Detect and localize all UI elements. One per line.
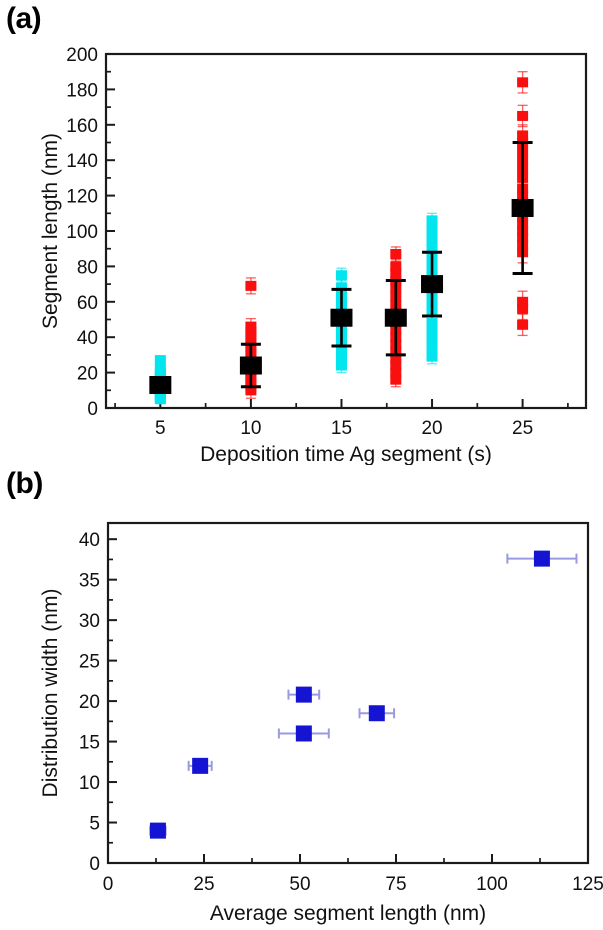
panel-b-label: (b) xyxy=(6,467,43,501)
data-marker xyxy=(427,352,438,362)
x-tick-label: 5 xyxy=(155,418,166,439)
x-tick-label: 75 xyxy=(385,874,406,895)
y-tick-label: 5 xyxy=(89,814,100,835)
y-tick-label: 40 xyxy=(79,530,100,551)
mean-marker-15 xyxy=(330,289,352,346)
y-tick-label: 80 xyxy=(77,257,98,278)
data-marker xyxy=(390,375,401,385)
y-tick-label: 25 xyxy=(79,652,100,673)
data-point-4 xyxy=(360,705,395,721)
mean-marker-5 xyxy=(149,376,171,394)
data-marker xyxy=(155,355,166,365)
y-tick-label: 40 xyxy=(77,328,98,349)
x-tick-label: 125 xyxy=(572,874,603,895)
mean-square xyxy=(330,309,352,327)
y-tick-label: 20 xyxy=(79,692,100,713)
y-tick-label: 180 xyxy=(66,80,98,101)
y-tick-label: 20 xyxy=(77,364,98,385)
data-point-5 xyxy=(507,551,576,567)
data-point-2 xyxy=(288,687,319,703)
x-tick-label: 100 xyxy=(476,874,508,895)
panel-a-chart: 020406080100120140160180200510152025Depo… xyxy=(0,0,603,465)
x-axis-title: Deposition time Ag segment (s) xyxy=(200,443,492,465)
data-marker xyxy=(336,270,347,280)
y-tick-label: 30 xyxy=(79,611,100,632)
y-tick-label: 35 xyxy=(79,571,100,592)
y-tick-label: 100 xyxy=(66,222,98,243)
data-marker xyxy=(150,823,166,839)
y-tick-label: 160 xyxy=(66,116,98,137)
x-tick-label: 0 xyxy=(103,874,114,895)
x-tick-label: 10 xyxy=(240,418,261,439)
x-tick-label: 50 xyxy=(289,874,310,895)
plot-frame xyxy=(108,523,588,863)
x-tick-label: 20 xyxy=(421,418,442,439)
data-marker xyxy=(517,111,528,121)
y-tick-label: 200 xyxy=(66,45,98,66)
data-marker xyxy=(517,320,528,330)
y-tick-label: 0 xyxy=(87,399,98,420)
mean-square xyxy=(149,376,171,394)
data-marker xyxy=(517,77,528,87)
mean-square xyxy=(385,309,407,327)
mean-square xyxy=(240,357,262,375)
y-tick-label: 0 xyxy=(89,854,100,875)
data-marker xyxy=(336,361,347,371)
y-tick-label: 60 xyxy=(77,293,98,314)
mean-marker-18 xyxy=(385,281,407,355)
y-axis-title: Segment length (nm) xyxy=(39,133,62,329)
x-tick-label: 15 xyxy=(331,418,352,439)
data-marker xyxy=(534,551,550,567)
data-point-1 xyxy=(189,758,212,774)
data-marker xyxy=(155,394,166,404)
data-point-0 xyxy=(150,823,166,839)
panel-a-figure: (a) 020406080100120140160180200510152025… xyxy=(0,0,603,465)
y-tick-label: 15 xyxy=(79,733,100,754)
x-tick-label: 25 xyxy=(193,874,214,895)
y-tick-label: 10 xyxy=(79,773,100,794)
data-marker xyxy=(369,705,385,721)
x-tick-label: 25 xyxy=(512,418,533,439)
data-marker xyxy=(390,249,401,259)
y-tick-label: 120 xyxy=(66,187,98,208)
data-marker xyxy=(192,758,208,774)
panel-a-label: (a) xyxy=(6,2,41,36)
panel-b-chart: 05101520253035400255075100125Average seg… xyxy=(0,465,603,930)
mean-square xyxy=(512,199,534,217)
data-point-3 xyxy=(279,725,329,741)
y-axis-title: Distribution width (nm) xyxy=(39,589,62,798)
data-marker xyxy=(517,304,528,314)
mean-marker-25 xyxy=(512,143,534,274)
data-marker xyxy=(296,687,312,703)
data-marker xyxy=(245,281,256,291)
mean-marker-20 xyxy=(421,252,443,316)
panel-b-figure: (b) 05101520253035400255075100125Average… xyxy=(0,465,603,930)
mean-marker-10 xyxy=(240,344,262,386)
data-marker xyxy=(296,725,312,741)
x-axis-title: Average segment length (nm) xyxy=(210,902,486,925)
y-tick-label: 140 xyxy=(66,151,98,172)
mean-square xyxy=(421,275,443,293)
